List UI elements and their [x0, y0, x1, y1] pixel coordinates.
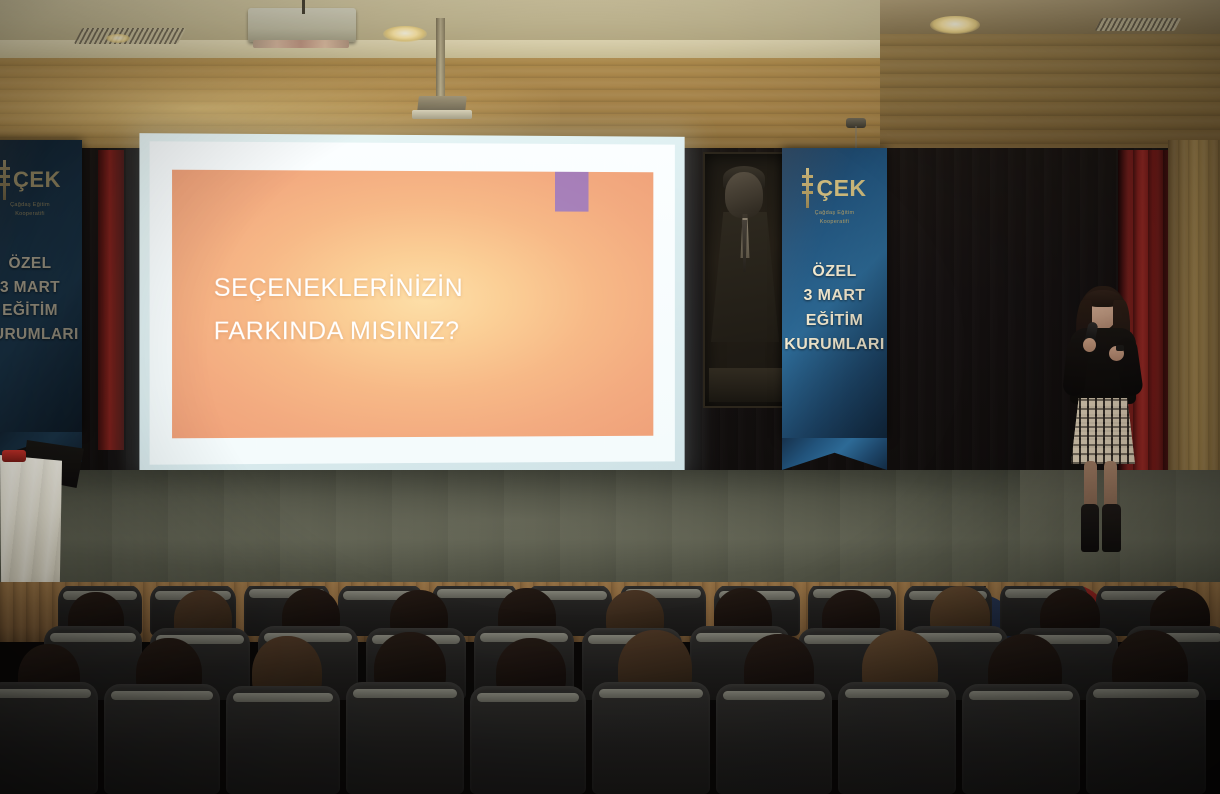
banner-right-text: ÖZEL 3 MART EĞİTİM KURUMLARI: [782, 260, 887, 357]
slide-text-line-1: SEÇENEKLERİNİZİN: [214, 266, 625, 309]
banner-left-logo-subtitle-1: Çağdaş Eğitim: [0, 202, 82, 209]
banner-left-logo: ÇEK Çağdaş Eğitim Kooperatifi: [0, 160, 82, 218]
banner-right-line-2: 3 MART: [782, 284, 887, 308]
presenter: [1060, 286, 1146, 552]
projector-pole-mount: [436, 18, 445, 100]
cek-emblem-icon: [802, 168, 813, 208]
portrait-lower-area: [709, 368, 783, 402]
banner-right-line-1: ÖZEL: [782, 260, 887, 284]
banner-right-logo-subtitle-2: Kooperatifi: [782, 219, 887, 226]
audience-seat[interactable]: [226, 686, 340, 794]
audience-seat[interactable]: [0, 682, 98, 794]
slide-accent-bar: [555, 170, 589, 212]
banner-right-line-4: KURUMLARI: [782, 333, 887, 357]
screen-white-border: SEÇENEKLERİNİZİN FARKINDA MISINIZ?: [150, 141, 675, 464]
portrait-head: [725, 172, 763, 218]
auditorium-presentation-scene: SEÇENEKLERİNİZİN FARKINDA MISINIZ? ÇEK Ç…: [0, 0, 1220, 794]
banner-left-line-3: EĞİTİM: [0, 299, 82, 323]
banner-right-line-3: EĞİTİM: [782, 309, 887, 333]
projector-cable: [302, 0, 305, 14]
banner-left-line-4: KURUMLARI: [0, 323, 82, 347]
audience-seat[interactable]: [716, 684, 832, 794]
slide-text: SEÇENEKLERİNİZİN FARKINDA MISINIZ?: [214, 266, 625, 353]
stage-curtain-left: [98, 150, 124, 450]
projector-lens-icon: [253, 40, 349, 48]
audience-seat[interactable]: [838, 682, 956, 794]
audience-seat[interactable]: [1086, 682, 1206, 794]
presenter-hand-left: [1083, 338, 1096, 352]
banner-left-line-1: ÖZEL: [0, 252, 82, 276]
presenter-boot-right: [1102, 504, 1121, 552]
ceiling-light-icon: [106, 34, 130, 43]
presenter-watch: [1116, 345, 1124, 351]
ceiling-light-icon: [383, 26, 427, 42]
audience-seat[interactable]: [346, 682, 464, 794]
presenter-boot-left: [1081, 504, 1099, 552]
banner-left-logo-subtitle-2: Kooperatifi: [0, 211, 82, 218]
logo-row: ÇEK: [782, 168, 887, 208]
slide-text-line-2: FARKINDA MISINIZ?: [214, 310, 625, 353]
banner-left-line-2: 3 MART: [0, 276, 82, 300]
logo-row: ÇEK: [0, 160, 82, 200]
audience-seat[interactable]: [470, 686, 586, 794]
banner-right-logo: ÇEK Çağdaş Eğitim Kooperatifi: [782, 168, 887, 226]
audience-seat[interactable]: [962, 684, 1080, 794]
banner-right-logo-word: ÇEK: [816, 177, 866, 200]
presenter-skirt: [1071, 398, 1135, 464]
audience-seat[interactable]: [592, 682, 710, 794]
ceiling-air-vent: [74, 28, 187, 44]
banner-right: ÇEK Çağdaş Eğitim Kooperatifi ÖZEL 3 MAR…: [782, 148, 887, 438]
ceiling-light-icon: [930, 16, 980, 34]
banner-left-logo-word: ÇEK: [13, 169, 61, 191]
banner-left-text: ÖZEL 3 MART EĞİTİM KURUMLARI: [0, 252, 82, 346]
banner-right-logo-subtitle-1: Çağdaş Eğitim: [782, 210, 887, 217]
cek-emblem-icon: [0, 160, 10, 200]
presentation-slide: SEÇENEKLERİNİZİN FARKINDA MISINIZ?: [172, 170, 653, 439]
audience-seating: [0, 586, 1220, 794]
banner-left: ÇEK Çağdaş Eğitim Kooperatifi ÖZEL 3 MAR…: [0, 140, 82, 432]
projector-mount-plate: [412, 110, 472, 119]
framed-portrait: [703, 152, 789, 408]
ceiling-air-vent: [1095, 18, 1182, 31]
projection-screen: SEÇENEKLERİNİZİN FARKINDA MISINIZ?: [139, 133, 684, 475]
audience-seat[interactable]: [104, 684, 220, 794]
table-item: [2, 450, 26, 462]
